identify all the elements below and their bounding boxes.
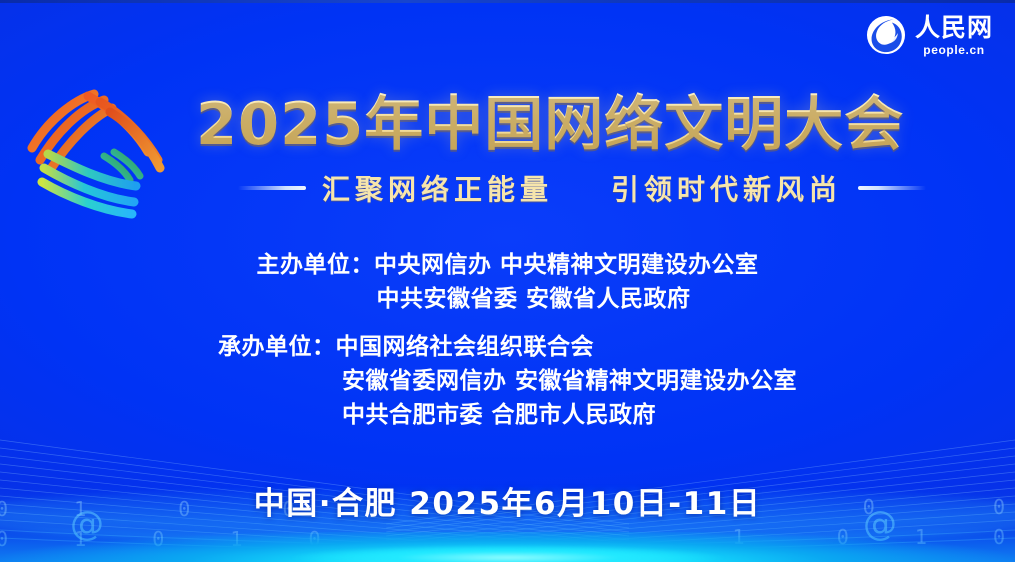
co-organizer-line-3: 中共合肥市委 合肥市人民政府 [218, 398, 797, 432]
host-line-1: 主办单位：中央网信办 中央精神文明建设办公室 [256, 248, 758, 282]
binary-digits-right-bottom: 1 0 1 0 [733, 524, 1015, 550]
conference-poster: 0 1 0 0 0 1 0 1 0 0 0 1 0 1 0 @ @ 人民网 pe… [0, 0, 1015, 562]
brand-text: 人民网 people.cn [915, 15, 993, 56]
brand-name-en: people.cn [923, 44, 984, 56]
binary-digits-left-bottom: 0 1 0 1 0 [0, 526, 335, 552]
masthead: 2025年中国网络文明大会 汇聚网络正能量 引领时代新风尚 [196, 92, 996, 208]
people-daily-globe-icon [865, 14, 907, 56]
slogan-right: 引领时代新风尚 [611, 168, 842, 208]
slogan-rule-left [238, 186, 306, 190]
slogan-row: 汇聚网络正能量 引领时代新风尚 [168, 168, 996, 208]
page-title: 2025年中国网络文明大会 [196, 92, 996, 156]
host-line-2: 中共安徽省委 安徽省人民政府 [256, 282, 758, 316]
conference-emblem [18, 82, 178, 222]
host-organizers-group: 主办单位：中央网信办 中央精神文明建设办公室 中共安徽省委 安徽省人民政府 [256, 248, 758, 316]
co-organizer-line-1: 承办单位：中国网络社会组织联合会 [218, 330, 797, 364]
event-location-date: 中国·合肥 2025年6月10日-11日 [0, 478, 1015, 523]
slogan-left: 汇聚网络正能量 [322, 168, 553, 208]
slogan-rule-right [858, 186, 926, 190]
bottom-glow-core [228, 542, 788, 562]
bottom-glow-band [0, 532, 1015, 562]
brand-name-cn: 人民网 [915, 15, 993, 40]
organizers-block: 主办单位：中央网信办 中央精神文明建设办公室 中共安徽省委 安徽省人民政府 承办… [0, 248, 1015, 432]
top-edge-strip [0, 0, 1015, 3]
people-cn-brand[interactable]: 人民网 people.cn [865, 14, 993, 56]
co-organizer-line-2: 安徽省委网信办 安徽省精神文明建设办公室 [218, 364, 797, 398]
co-organizers-group: 承办单位：中国网络社会组织联合会 安徽省委网信办 安徽省精神文明建设办公室 中共… [218, 330, 797, 432]
